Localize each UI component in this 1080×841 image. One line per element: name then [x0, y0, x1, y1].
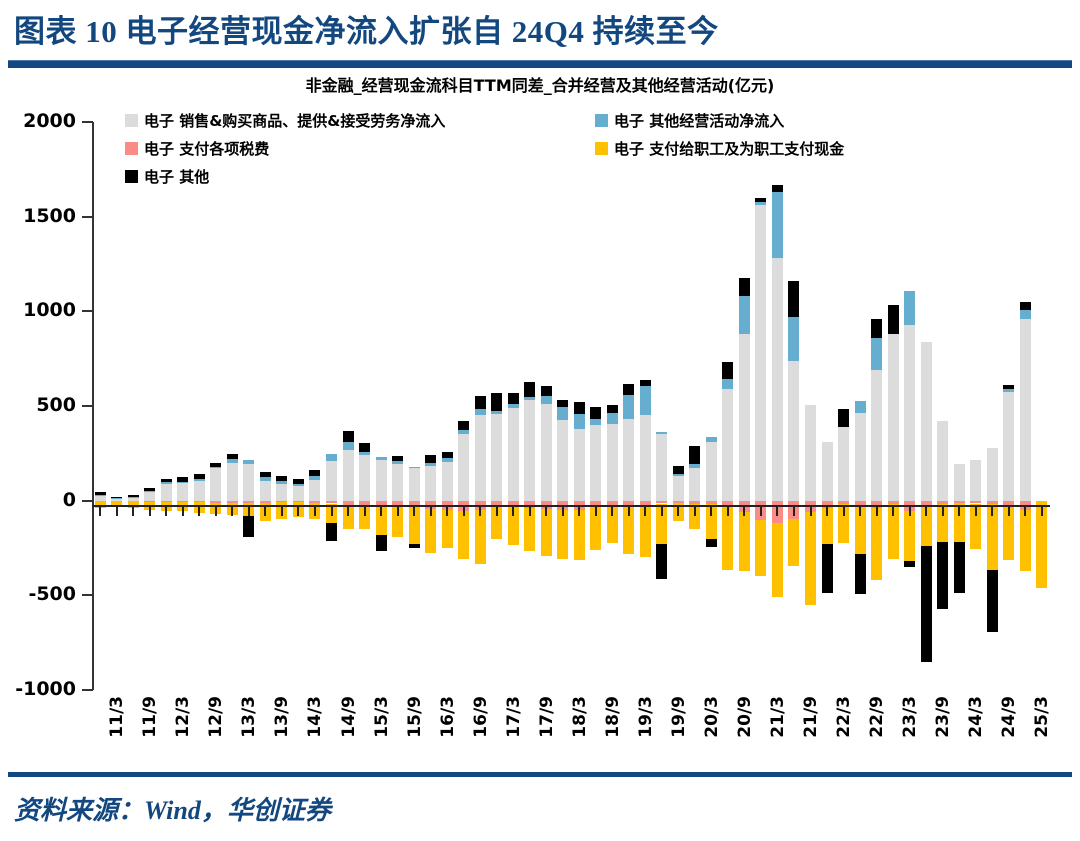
figure-title-bar: 图表 10 电子经营现金净流入扩张自 24Q4 持续至今	[0, 0, 1080, 56]
x-tick-label: 15/3	[372, 696, 392, 738]
bar-segment	[722, 507, 733, 569]
bar-segment	[243, 460, 254, 464]
x-tick-label: 17/9	[537, 696, 557, 738]
bar-segment	[524, 397, 535, 401]
x-tick	[793, 507, 795, 516]
bar-segment	[359, 452, 370, 455]
x-tick	[149, 507, 151, 516]
x-tick	[743, 507, 745, 516]
bar-segment	[144, 488, 155, 491]
x-tick	[710, 507, 712, 516]
bar-segment	[442, 462, 453, 501]
bar-segment	[343, 431, 354, 441]
x-tick	[132, 507, 134, 516]
x-tick-label: 22/9	[867, 696, 887, 738]
x-tick	[215, 507, 217, 516]
x-tick	[810, 507, 812, 516]
bar-segment	[276, 476, 287, 481]
bar-segment	[343, 450, 354, 501]
bar-segment	[755, 205, 766, 500]
bar-segment	[772, 192, 783, 258]
bar-segment	[574, 414, 585, 429]
x-tick	[231, 507, 233, 516]
bar-segment	[904, 325, 915, 501]
bar-segment	[640, 386, 651, 414]
bar-segment	[194, 474, 205, 478]
bar-segment	[177, 482, 188, 483]
bar-segment	[359, 443, 370, 452]
x-tick	[1041, 507, 1043, 516]
bar-segment	[921, 546, 932, 661]
x-tick-label: 25/3	[1032, 696, 1052, 738]
y-tick-label: 2000	[0, 110, 76, 132]
bar-segment	[788, 361, 799, 501]
x-tick-label: 13/9	[272, 696, 292, 738]
x-tick	[843, 507, 845, 516]
bar-segment	[458, 511, 469, 559]
bar-segment	[276, 481, 287, 484]
bar-segment	[95, 495, 106, 496]
bar-segment	[376, 535, 387, 551]
x-tick	[248, 507, 250, 516]
bar-segment	[260, 481, 271, 501]
bar-segment	[805, 405, 816, 501]
bar-segment	[491, 411, 502, 414]
x-tick	[281, 507, 283, 516]
x-tick	[958, 507, 960, 516]
bar-segment	[260, 472, 271, 478]
bar-segment	[491, 393, 502, 411]
x-tick-label: 12/3	[173, 696, 193, 738]
bar-segment	[673, 474, 684, 476]
bar-segment	[623, 395, 634, 420]
x-tick	[165, 507, 167, 516]
x-tick	[297, 507, 299, 516]
bar-segment	[855, 554, 866, 595]
bar-segment	[607, 413, 618, 424]
bar-segment	[623, 384, 634, 394]
bar-segment	[904, 561, 915, 567]
bar-segment	[871, 508, 882, 580]
x-tick	[909, 507, 911, 516]
plot-area	[92, 122, 1050, 690]
bar-segment	[970, 460, 981, 501]
y-tick-label: 1500	[0, 205, 76, 227]
x-tick	[397, 507, 399, 516]
x-tick	[727, 507, 729, 516]
x-tick	[1008, 507, 1010, 516]
source-note: 资料来源：Wind，华创证券	[14, 790, 331, 827]
x-tick-label: 16/9	[471, 696, 491, 738]
bar-segment	[722, 362, 733, 378]
bar-segment	[508, 408, 519, 501]
bar-segment	[442, 452, 453, 459]
bar-segment	[904, 511, 915, 561]
x-tick	[562, 507, 564, 516]
bar-segment	[326, 454, 337, 461]
bar-segment	[673, 466, 684, 474]
bar-segment	[161, 484, 172, 501]
bar-segment	[557, 510, 568, 559]
zero-baseline	[92, 505, 1050, 507]
bar-segment	[987, 570, 998, 632]
bar-segment	[177, 483, 188, 501]
bar-segment	[95, 492, 106, 495]
bar-segment	[772, 185, 783, 192]
bar-segment	[706, 539, 717, 547]
x-tick	[264, 507, 266, 516]
bar-segment	[475, 409, 486, 414]
bar-segment	[475, 510, 486, 564]
y-tick-label: 500	[0, 394, 76, 416]
x-tick-label: 18/9	[603, 696, 623, 738]
bar-segment	[772, 258, 783, 500]
bar-segment	[210, 467, 221, 469]
bar-segment	[805, 512, 816, 605]
x-tick-label: 18/3	[570, 696, 590, 738]
x-tick	[413, 507, 415, 516]
bar-segment	[524, 400, 535, 500]
x-tick	[446, 507, 448, 516]
bar-segment	[309, 480, 320, 501]
bar-segment	[111, 497, 122, 499]
x-tick	[991, 507, 993, 516]
bar-segment	[689, 464, 700, 467]
x-tick	[677, 507, 679, 516]
bar-segment	[243, 516, 254, 537]
x-tick	[611, 507, 613, 516]
x-tick	[430, 507, 432, 516]
bar-segment	[574, 429, 585, 501]
x-tick	[496, 507, 498, 516]
x-tick	[826, 507, 828, 516]
bar-segment	[722, 379, 733, 389]
bar-segment	[1020, 310, 1031, 319]
bar-segment	[541, 396, 552, 405]
x-tick-label: 19/3	[636, 696, 656, 738]
bar-segment	[409, 468, 420, 500]
x-tick	[595, 507, 597, 516]
bar-segment	[607, 405, 618, 413]
x-tick	[347, 507, 349, 516]
bar-segment	[144, 491, 155, 492]
bar-segment	[755, 198, 766, 202]
bar-segment	[541, 386, 552, 395]
bar-segment	[788, 281, 799, 317]
bar-segment	[210, 463, 221, 467]
bar-segment	[227, 459, 238, 463]
x-tick-label: 11/3	[107, 696, 127, 738]
bar-segment	[1020, 510, 1031, 571]
bar-segment	[128, 495, 139, 497]
bar-segment	[673, 476, 684, 501]
bar-segment	[788, 317, 799, 361]
x-tick	[892, 507, 894, 516]
bar-segment	[822, 544, 833, 593]
bar-segment	[888, 334, 899, 501]
bar-segment	[293, 486, 304, 500]
bar-segment	[855, 401, 866, 412]
bar-segment	[871, 338, 882, 370]
bar-segment	[392, 461, 403, 463]
bar-segment	[425, 455, 436, 464]
footer-divider	[8, 772, 1072, 777]
bar-segment	[243, 464, 254, 501]
x-tick-label: 12/9	[206, 696, 226, 738]
bar-segment	[409, 544, 420, 548]
bar-segment	[689, 446, 700, 464]
bar-segment	[491, 414, 502, 501]
bar-segment	[1003, 389, 1014, 392]
bar-segment	[161, 482, 172, 484]
bar-segment	[871, 370, 882, 501]
bar-segment	[376, 460, 387, 501]
x-tick	[364, 507, 366, 516]
bar-segment	[227, 463, 238, 501]
bar-segment	[227, 454, 238, 459]
x-tick	[578, 507, 580, 516]
bar-segment	[1003, 385, 1014, 389]
bar-segment	[475, 415, 486, 501]
bar-segment	[755, 520, 766, 577]
bar-segment	[822, 442, 833, 501]
x-tick-label: 23/3	[900, 696, 920, 738]
bar-segment	[937, 542, 948, 608]
x-tick-label: 20/3	[702, 696, 722, 738]
x-tick	[529, 507, 531, 516]
x-tick	[545, 507, 547, 516]
x-tick-label: 11/9	[140, 696, 160, 738]
bar-segment	[590, 419, 601, 425]
bar-segment	[343, 442, 354, 450]
bar-segment	[541, 509, 552, 555]
x-tick	[99, 507, 101, 516]
bar-segment	[739, 278, 750, 296]
bar-segment	[194, 481, 205, 501]
x-tick-label: 23/9	[933, 696, 953, 738]
bar-segment	[293, 484, 304, 486]
bar-segment	[359, 455, 370, 500]
bar-segment	[326, 461, 337, 501]
bar-segment	[392, 464, 403, 501]
bar-segment	[689, 468, 700, 501]
bar-segment	[888, 305, 899, 334]
bar-segment	[194, 479, 205, 481]
bar-segment	[904, 291, 915, 325]
bar-segment	[788, 519, 799, 566]
bar-segment	[722, 389, 733, 501]
bar-segment	[987, 448, 998, 501]
x-tick	[116, 507, 118, 516]
bar-segment	[954, 464, 965, 501]
bar-segment	[623, 419, 634, 500]
bar-segment	[871, 319, 882, 338]
bar-segment	[557, 420, 568, 500]
bar-segment	[706, 437, 717, 442]
x-tick	[925, 507, 927, 516]
chart-container: 电子 销售&购买商品、提供&接受劳务净流入电子 其他经营活动净流入电子 支付各项…	[0, 96, 1080, 706]
bar-segment	[475, 396, 486, 409]
x-tick	[380, 507, 382, 516]
bar-segment	[458, 430, 469, 434]
bar-segment	[739, 334, 750, 501]
bar-segment	[392, 456, 403, 462]
x-tick	[694, 507, 696, 516]
x-tick	[314, 507, 316, 516]
page-title: 图表 10 电子经营现金净流入扩张自 24Q4 持续至今	[14, 6, 719, 51]
x-tick-label: 21/3	[768, 696, 788, 738]
bar-segment	[309, 470, 320, 477]
bar-segment	[508, 393, 519, 404]
bar-segment	[1020, 319, 1031, 501]
bar-segment	[755, 202, 766, 206]
bar-segment	[144, 492, 155, 501]
y-tick-label: -500	[0, 583, 76, 605]
x-tick-label: 16/3	[438, 696, 458, 738]
x-tick	[776, 507, 778, 516]
x-tick	[942, 507, 944, 516]
bar-segment	[458, 434, 469, 500]
bar-segment	[557, 407, 568, 420]
bar-segment	[574, 402, 585, 413]
x-tick-label: 15/9	[405, 696, 425, 738]
bar-segment	[1003, 392, 1014, 501]
bar-segment	[739, 512, 750, 571]
x-tick-label: 14/9	[339, 696, 359, 738]
x-tick	[198, 507, 200, 516]
bar-segment	[376, 457, 387, 460]
bar-segment	[590, 425, 601, 501]
bar-segment	[458, 421, 469, 430]
bar-segment	[838, 409, 849, 427]
x-tick	[512, 507, 514, 516]
chart-subtitle: 非金融_经营现金流科目TTM同差_合并经营及其他经营活动(亿元)	[0, 72, 1080, 96]
x-tick-label: 20/9	[735, 696, 755, 738]
bar-segment	[557, 400, 568, 407]
bar-segment	[739, 296, 750, 334]
x-tick	[644, 507, 646, 516]
x-tick	[661, 507, 663, 516]
bar-segment	[937, 421, 948, 501]
bar-segment	[409, 467, 420, 469]
header-divider	[8, 60, 1072, 68]
x-tick	[463, 507, 465, 516]
bar-segment	[425, 463, 436, 465]
bar-segment	[128, 497, 139, 498]
bar-segment	[656, 544, 667, 579]
bar-segment	[425, 466, 436, 501]
x-tick-label: 21/9	[801, 696, 821, 738]
bar-segment	[640, 415, 651, 501]
x-tick	[182, 507, 184, 516]
x-tick	[760, 507, 762, 516]
x-tick	[975, 507, 977, 516]
x-tick	[1024, 507, 1026, 516]
x-tick-label: 14/3	[305, 696, 325, 738]
bar-segment	[508, 404, 519, 407]
bar-segment	[442, 458, 453, 461]
bar-segment	[276, 484, 287, 501]
bar-segment	[177, 477, 188, 482]
bar-segment	[656, 432, 667, 435]
y-tick-label: 0	[0, 489, 76, 511]
bar-segment	[772, 523, 783, 597]
x-tick	[479, 507, 481, 516]
bar-segment	[921, 342, 932, 501]
x-tick	[876, 507, 878, 516]
bar-segment	[656, 434, 667, 500]
x-tick-label: 17/3	[504, 696, 524, 738]
bar-segment	[954, 542, 965, 593]
x-tick-label: 22/3	[834, 696, 854, 738]
bar-segment	[590, 407, 601, 419]
bar-segment	[706, 442, 717, 501]
y-tick-label: 1000	[0, 299, 76, 321]
bar-segment	[541, 404, 552, 501]
bar-segment	[607, 424, 618, 501]
bar-segment	[161, 479, 172, 483]
bar-segment	[524, 382, 535, 396]
bar-segment	[574, 510, 585, 560]
x-tick	[628, 507, 630, 516]
bar-segment	[1020, 302, 1031, 311]
bar-segment	[210, 468, 221, 500]
x-tick-label: 13/3	[239, 696, 259, 738]
bar-segment	[293, 479, 304, 485]
x-tick	[331, 507, 333, 516]
x-tick-label: 24/3	[966, 696, 986, 738]
bar-segment	[855, 413, 866, 501]
bar-segment	[309, 476, 320, 479]
bar-segment	[640, 380, 651, 386]
x-tick-label: 19/9	[669, 696, 689, 738]
x-tick-label: 24/9	[999, 696, 1019, 738]
bar-segment	[260, 477, 271, 480]
bar-segment	[838, 427, 849, 501]
bar-segment	[326, 523, 337, 541]
x-tick	[859, 507, 861, 516]
y-tick-label: -1000	[0, 678, 76, 700]
